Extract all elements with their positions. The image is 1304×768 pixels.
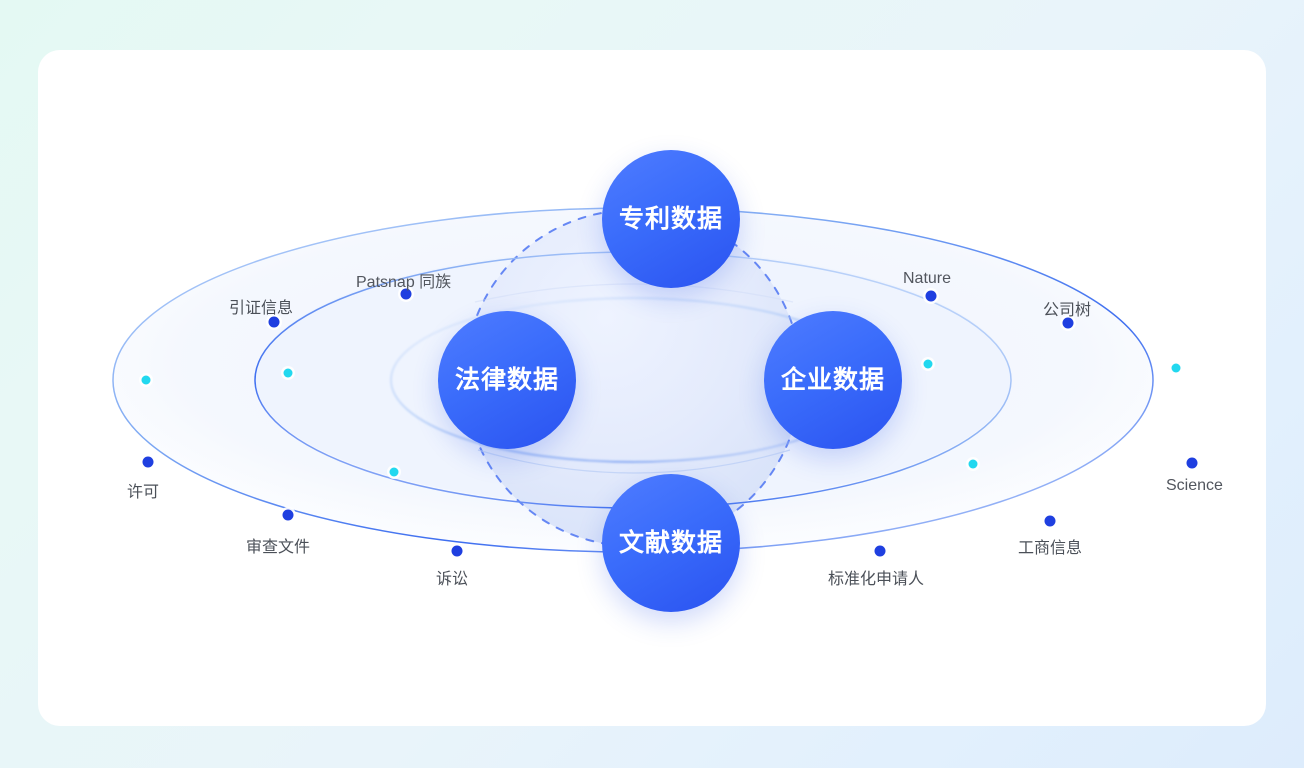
node-company-data-label: 企业数据 bbox=[781, 368, 885, 393]
orbit-label-company-tree[interactable]: 公司树 bbox=[1043, 296, 1091, 320]
orbit-dot-nature[interactable] bbox=[926, 291, 937, 302]
orbit-dot-litigation[interactable] bbox=[452, 546, 463, 557]
node-literature-data-label: 文献数据 bbox=[619, 531, 723, 556]
orbit-label-patsnap-family[interactable]: Patsnap 同族 bbox=[356, 268, 451, 292]
orbit-label-nature[interactable]: Nature bbox=[903, 270, 951, 288]
content-card: 引证信息Patsnap 同族Nature公司树许可审查文件诉讼标准化申请人工商信… bbox=[38, 50, 1266, 726]
orbit-dot-standardized-applicant[interactable] bbox=[875, 546, 886, 557]
orbit-dot-accent-right-inner[interactable] bbox=[924, 360, 933, 369]
orbit-dot-license[interactable] bbox=[143, 457, 154, 468]
orbit-dot-accent-right-outer[interactable] bbox=[1172, 364, 1181, 373]
node-company-data[interactable]: 企业数据 bbox=[764, 311, 902, 449]
orbit-dot-accent-left-outer[interactable] bbox=[142, 376, 151, 385]
orbit-label-examination-document[interactable]: 审查文件 bbox=[246, 533, 310, 557]
orbit-label-license[interactable]: 许可 bbox=[127, 478, 159, 502]
orbit-dot-examination-document[interactable] bbox=[283, 510, 294, 521]
orbit-dot-accent-left-mid[interactable] bbox=[390, 468, 399, 477]
node-legal-data[interactable]: 法律数据 bbox=[438, 311, 576, 449]
orbit-label-standardized-applicant[interactable]: 标准化申请人 bbox=[828, 565, 924, 589]
orbit-label-litigation[interactable]: 诉讼 bbox=[436, 565, 468, 589]
orbit-dot-citation-info[interactable] bbox=[269, 317, 280, 328]
orbit-dot-business-info[interactable] bbox=[1045, 516, 1056, 527]
orbit-label-science[interactable]: Science bbox=[1166, 477, 1223, 495]
orbit-dot-accent-left-inner[interactable] bbox=[284, 369, 293, 378]
node-literature-data[interactable]: 文献数据 bbox=[602, 474, 740, 612]
node-patent-data[interactable]: 专利数据 bbox=[602, 150, 740, 288]
orbit-dot-science[interactable] bbox=[1187, 458, 1198, 469]
page-root: 引证信息Patsnap 同族Nature公司树许可审查文件诉讼标准化申请人工商信… bbox=[0, 0, 1304, 768]
orbit-label-citation-info[interactable]: 引证信息 bbox=[229, 294, 293, 318]
node-legal-data-label: 法律数据 bbox=[455, 368, 559, 393]
node-patent-data-label: 专利数据 bbox=[619, 207, 723, 232]
orbit-dot-accent-right-mid[interactable] bbox=[969, 460, 978, 469]
diagram-stage: 引证信息Patsnap 同族Nature公司树许可审查文件诉讼标准化申请人工商信… bbox=[38, 50, 1266, 726]
orbit-label-business-info[interactable]: 工商信息 bbox=[1018, 534, 1082, 558]
